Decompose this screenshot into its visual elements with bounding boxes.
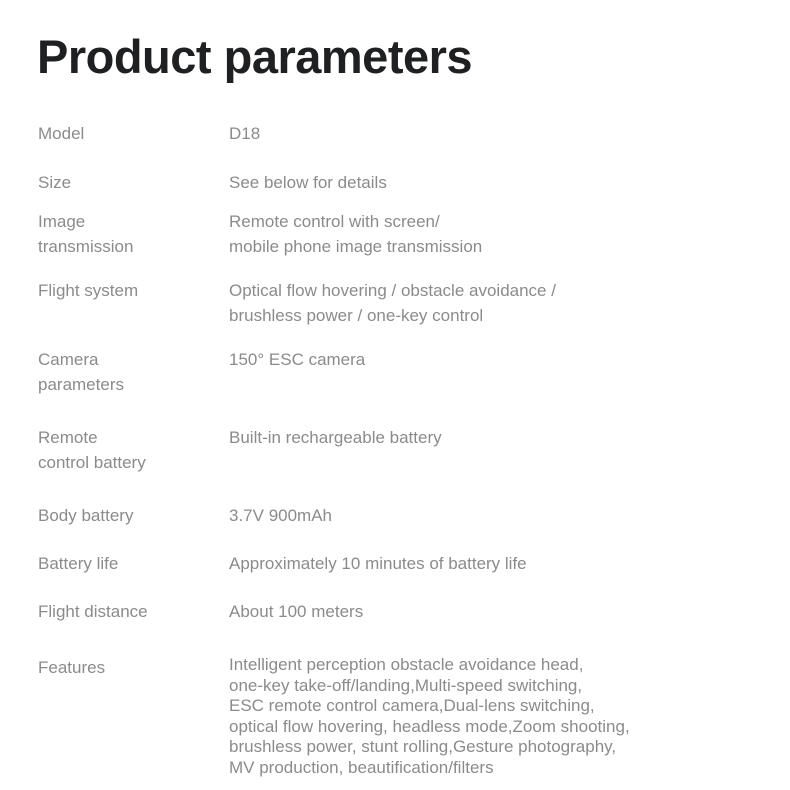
spec-value-image-transmission: Remote control with screen/ mobile phone… [229,209,738,259]
spec-row-image-transmission: Image transmission Remote control with s… [38,209,738,259]
spec-label-size: Size [38,170,229,195]
spec-table: Model D18 Size See below for details Ima… [38,121,738,778]
spec-label-image-transmission: Image transmission [38,209,229,259]
spec-label-camera-parameters: Camera parameters [38,347,229,397]
spec-row-features: Features Intelligent perception obstacle… [38,655,738,778]
spec-label-features: Features [38,655,229,680]
spec-value-flight-system: Optical flow hovering / obstacle avoidan… [229,278,738,328]
spec-row-flight-distance: Flight distance About 100 meters [38,599,738,624]
spec-row-remote-control-battery: Remote control battery Built-in recharge… [38,425,738,475]
spec-row-flight-system: Flight system Optical flow hovering / ob… [38,278,738,328]
spec-label-flight-distance: Flight distance [38,599,229,624]
spec-label-body-battery: Body battery [38,503,229,528]
spec-row-body-battery: Body battery 3.7V 900mAh [38,503,738,528]
spec-row-size: Size See below for details [38,170,738,195]
spec-label-flight-system: Flight system [38,278,229,303]
spec-value-remote-control-battery: Built-in rechargeable battery [229,425,738,450]
spec-value-features: Intelligent perception obstacle avoidanc… [229,655,738,778]
spec-value-flight-distance: About 100 meters [229,599,738,624]
spec-value-model: D18 [229,121,738,146]
spec-value-body-battery: 3.7V 900mAh [229,503,738,528]
spec-row-camera-parameters: Camera parameters 150° ESC camera [38,347,738,397]
spec-label-model: Model [38,121,229,146]
spec-row-model: Model D18 [38,121,738,146]
spec-label-remote-control-battery: Remote control battery [38,425,229,475]
spec-value-camera-parameters: 150° ESC camera [229,347,738,372]
page-title: Product parameters [37,32,472,81]
spec-row-battery-life: Battery life Approximately 10 minutes of… [38,551,738,576]
spec-value-size: See below for details [229,170,738,195]
spec-value-battery-life: Approximately 10 minutes of battery life [229,551,738,576]
spec-label-battery-life: Battery life [38,551,229,576]
product-parameters-page: Product parameters Model D18 Size See be… [0,0,790,790]
